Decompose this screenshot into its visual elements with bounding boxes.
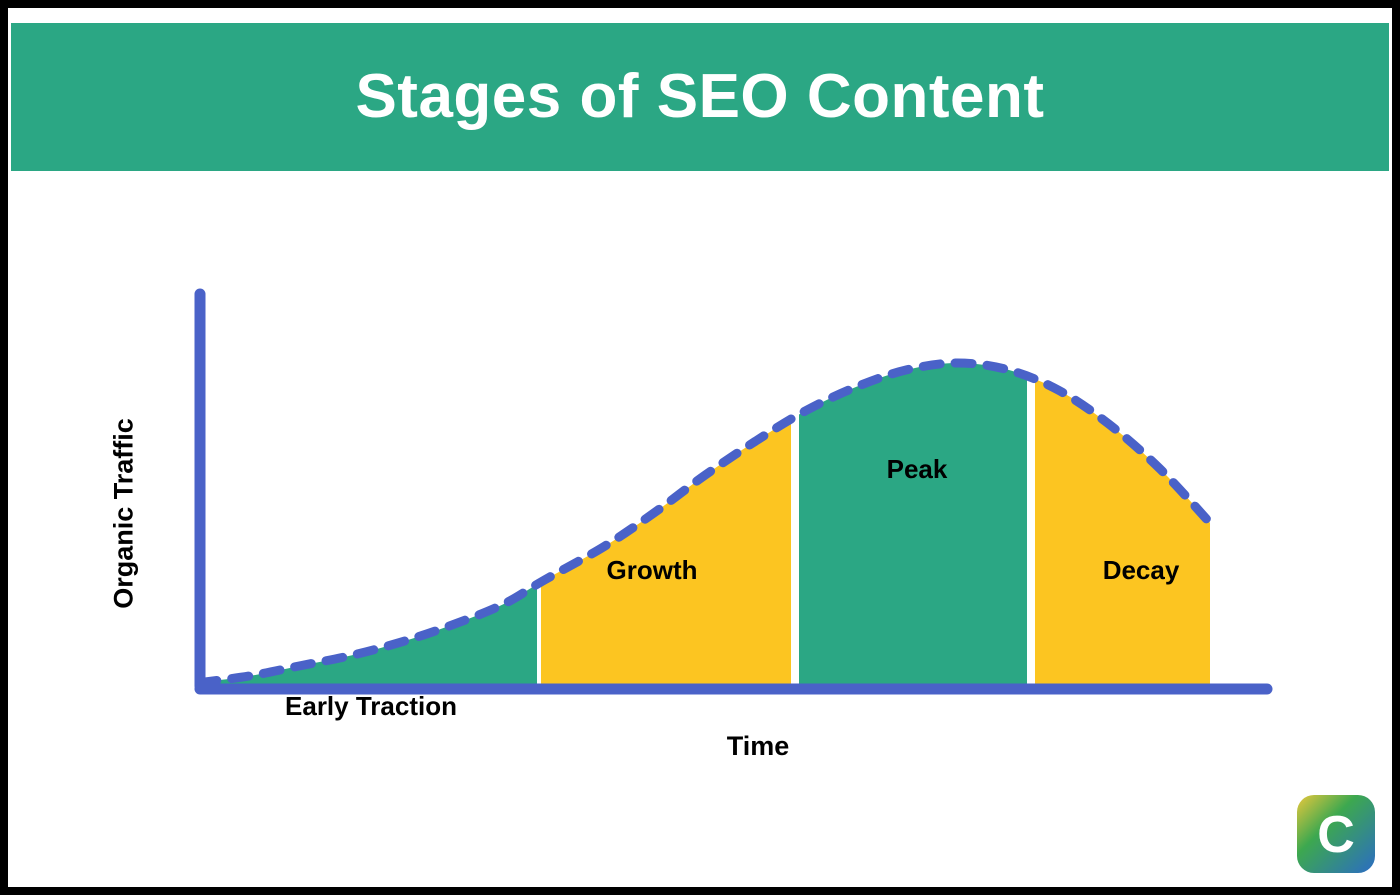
infographic-canvas: Stages of SEO Content (0, 0, 1400, 895)
stage-label-growth: Growth (607, 555, 698, 586)
stage-label-peak: Peak (887, 454, 948, 485)
stage-label-early-traction: Early Traction (285, 691, 457, 722)
y-axis-title: Organic Traffic (109, 394, 140, 634)
page-title: Stages of SEO Content (355, 66, 1044, 128)
chart-area: Organic Traffic Time Early Traction Grow… (8, 171, 1392, 887)
brand-logo: C (1297, 795, 1375, 873)
logo-letter: C (1317, 806, 1355, 864)
area-segments (200, 363, 1210, 686)
x-axis-title: Time (628, 731, 888, 762)
seo-lifecycle-chart (8, 171, 1392, 887)
brand-logo-icon: C (1297, 795, 1375, 873)
infographic-page: Stages of SEO Content (8, 8, 1392, 887)
stage-label-decay: Decay (1103, 555, 1180, 586)
header-band: Stages of SEO Content (11, 23, 1389, 171)
